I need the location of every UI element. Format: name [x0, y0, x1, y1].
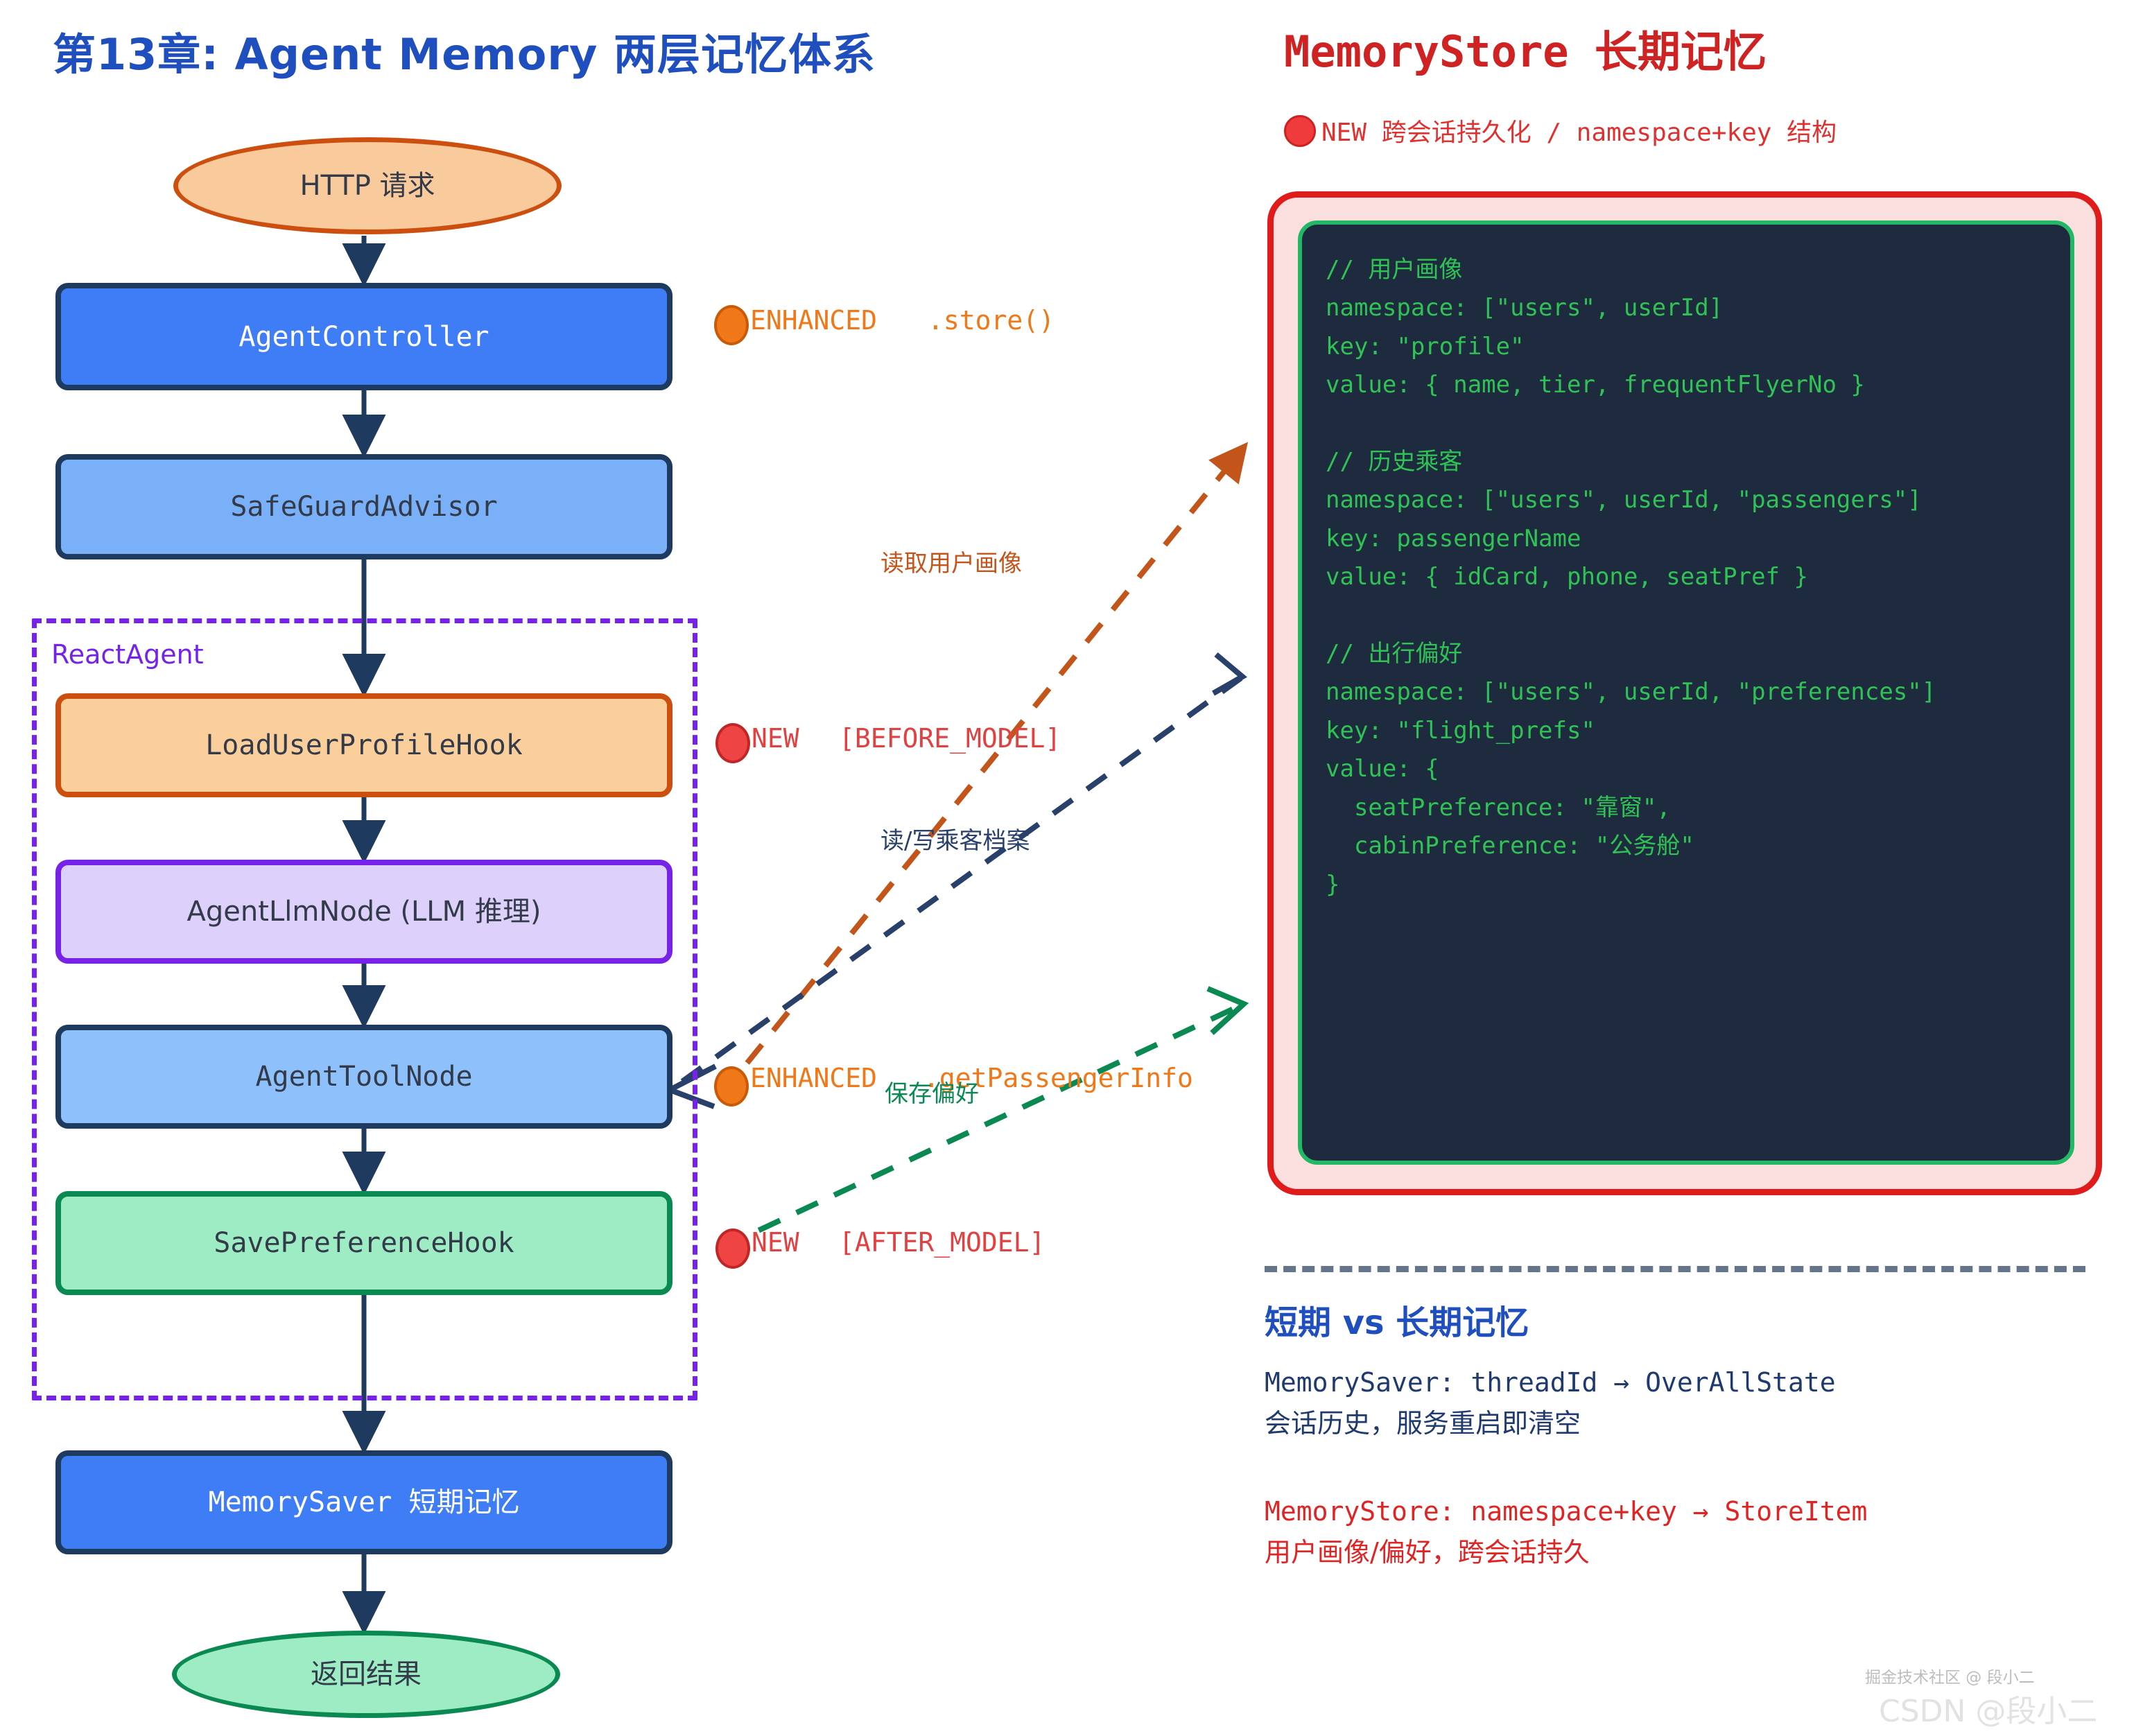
- watermark-csdn: CSDN @段小二: [1879, 1686, 2097, 1730]
- node-agent-controller[interactable]: AgentController: [55, 283, 672, 390]
- page-title: 第13章: Agent Memory 两层记忆体系: [53, 19, 876, 82]
- new-badge-dot-icon-load: [715, 723, 750, 763]
- load-hook-new-label: NEW: [752, 723, 799, 754]
- node-label: MemorySaver 短期记忆: [209, 1486, 520, 1518]
- memorystore-code-text: // 用户画像 namespace: ["users", userId] key…: [1326, 251, 2070, 904]
- node-label: HTTP 请求: [300, 170, 435, 202]
- edge-label-read-profile: 读取用户画像: [880, 544, 1022, 578]
- edge-label-rw-passenger: 读/写乘客档案: [880, 822, 1030, 856]
- section-divider: [1265, 1266, 2085, 1272]
- node-label: AgentLlmNode (LLM 推理): [187, 896, 541, 928]
- node-save-preference-hook[interactable]: SavePreferenceHook: [55, 1191, 672, 1295]
- compare-title: 短期 vs 长期记忆: [1265, 1295, 1529, 1344]
- edge-label-save-pref: 保存偏好: [885, 1075, 979, 1109]
- compare-store-line2: 用户画像/偏好，跨会话持久: [1265, 1531, 1590, 1569]
- memorystore-subtitle: NEW 跨会话持久化 / namespace+key 结构: [1321, 112, 1837, 148]
- node-label: 返回结果: [311, 1658, 422, 1690]
- memorystore-code-block: // 用户画像 namespace: ["users", userId] key…: [1298, 220, 2074, 1165]
- compare-store-line1: MemoryStore: namespace+key → StoreItem: [1265, 1496, 1867, 1527]
- react-agent-label: ReactAgent: [51, 639, 204, 670]
- node-agent-tool-node[interactable]: AgentToolNode: [55, 1025, 672, 1129]
- memorystore-title: MemoryStore 长期记忆: [1284, 17, 1767, 79]
- node-label: SavePreferenceHook: [214, 1227, 514, 1259]
- controller-enhanced-label: ENHANCED: [750, 305, 877, 336]
- load-hook-phase-label: [BEFORE_MODEL]: [839, 723, 1061, 754]
- new-badge-dot-icon-save: [715, 1229, 750, 1269]
- new-badge-dot-icon: [1284, 115, 1316, 147]
- node-label: AgentToolNode: [255, 1061, 472, 1093]
- enhanced-badge-dot-icon-tool: [714, 1066, 749, 1106]
- compare-saver-line1: MemorySaver: threadId → OverAllState: [1265, 1367, 1836, 1398]
- save-hook-phase-label: [AFTER_MODEL]: [839, 1227, 1045, 1258]
- tool-node-enhanced-label: ENHANCED: [750, 1063, 877, 1093]
- node-load-user-profile-hook[interactable]: LoadUserProfileHook: [55, 693, 672, 797]
- enhanced-badge-dot-icon: [714, 305, 749, 345]
- save-hook-new-label: NEW: [752, 1227, 799, 1258]
- node-memory-saver[interactable]: MemorySaver 短期记忆: [55, 1450, 672, 1554]
- controller-method-label: .store(): [928, 305, 1055, 336]
- compare-saver-line2: 会话历史，服务重启即清空: [1265, 1402, 1581, 1440]
- node-http-request[interactable]: HTTP 请求: [173, 137, 562, 234]
- node-safeguard-advisor[interactable]: SafeGuardAdvisor: [55, 454, 672, 559]
- node-label: AgentController: [238, 321, 489, 353]
- node-label: LoadUserProfileHook: [205, 729, 523, 761]
- node-return-result[interactable]: 返回结果: [172, 1631, 560, 1718]
- watermark-juejin: 掘金技术社区 @ 段小二: [1865, 1664, 2035, 1687]
- node-agent-llm-node[interactable]: AgentLlmNode (LLM 推理): [55, 860, 672, 964]
- node-label: SafeGuardAdvisor: [230, 491, 497, 523]
